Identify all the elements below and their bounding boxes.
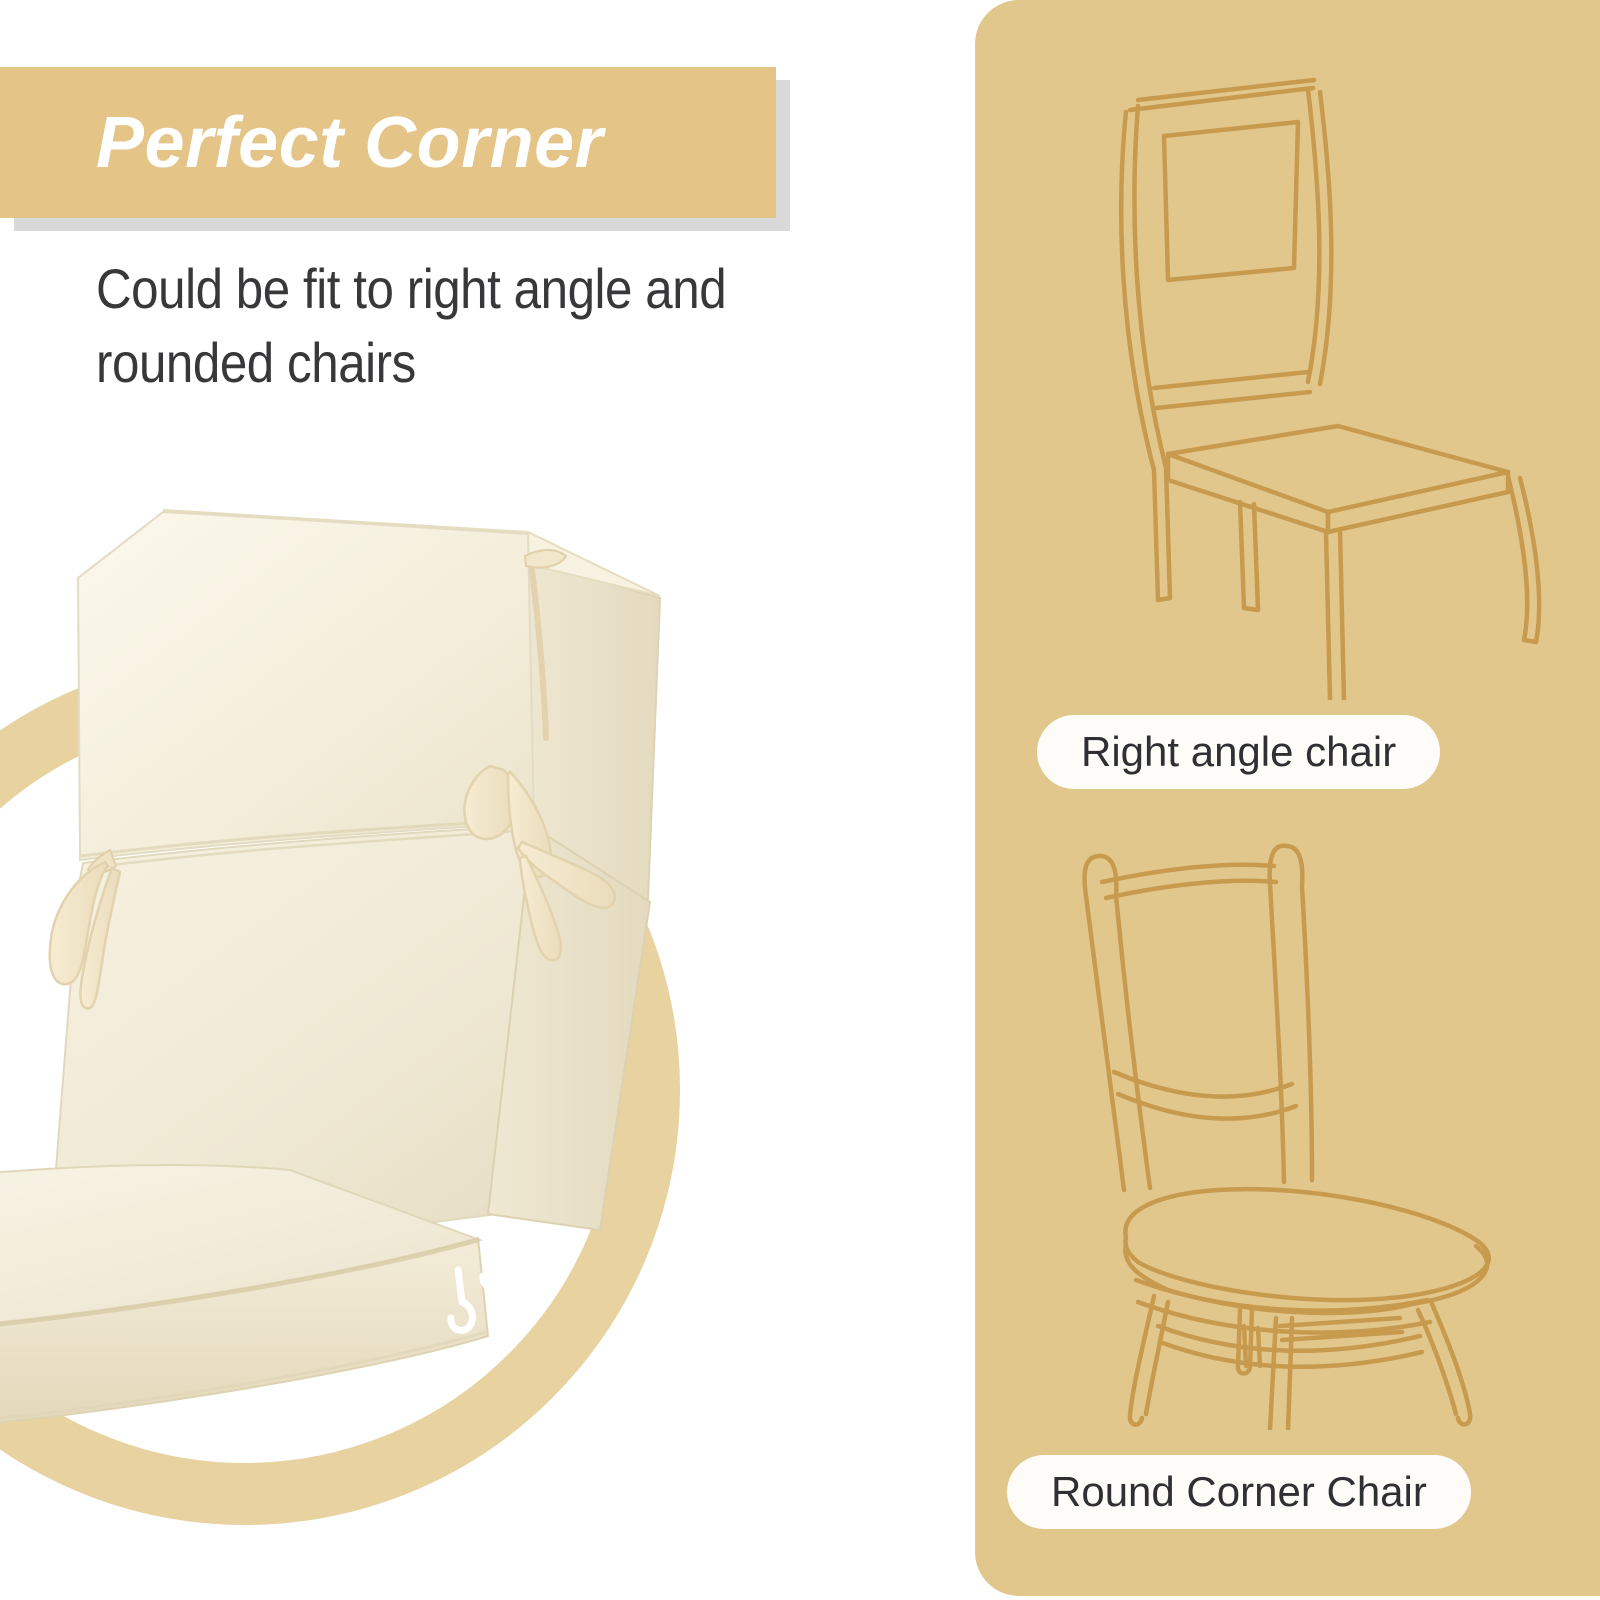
title-banner: Perfect Corner [0,67,776,218]
chair-types-panel: Right angle chair [975,0,1600,1596]
page-title: Perfect Corner [96,102,603,184]
round-corner-chair-line-drawing [975,810,1600,1430]
chair-cushion-set-photo [0,470,700,1530]
page-subtitle: Could be fit to right angle and rounded … [96,252,826,401]
label-round-corner-chair-text: Round Corner Chair [1051,1468,1427,1516]
label-right-angle-chair-text: Right angle chair [1081,728,1396,776]
label-right-angle-chair: Right angle chair [1037,715,1440,789]
zipper-pull-upper [483,1228,505,1288]
right-angle-chair-line-drawing [975,40,1600,700]
label-round-corner-chair: Round Corner Chair [1007,1455,1471,1529]
left-content-column: Perfect Corner Could be fit to right ang… [0,0,975,1600]
